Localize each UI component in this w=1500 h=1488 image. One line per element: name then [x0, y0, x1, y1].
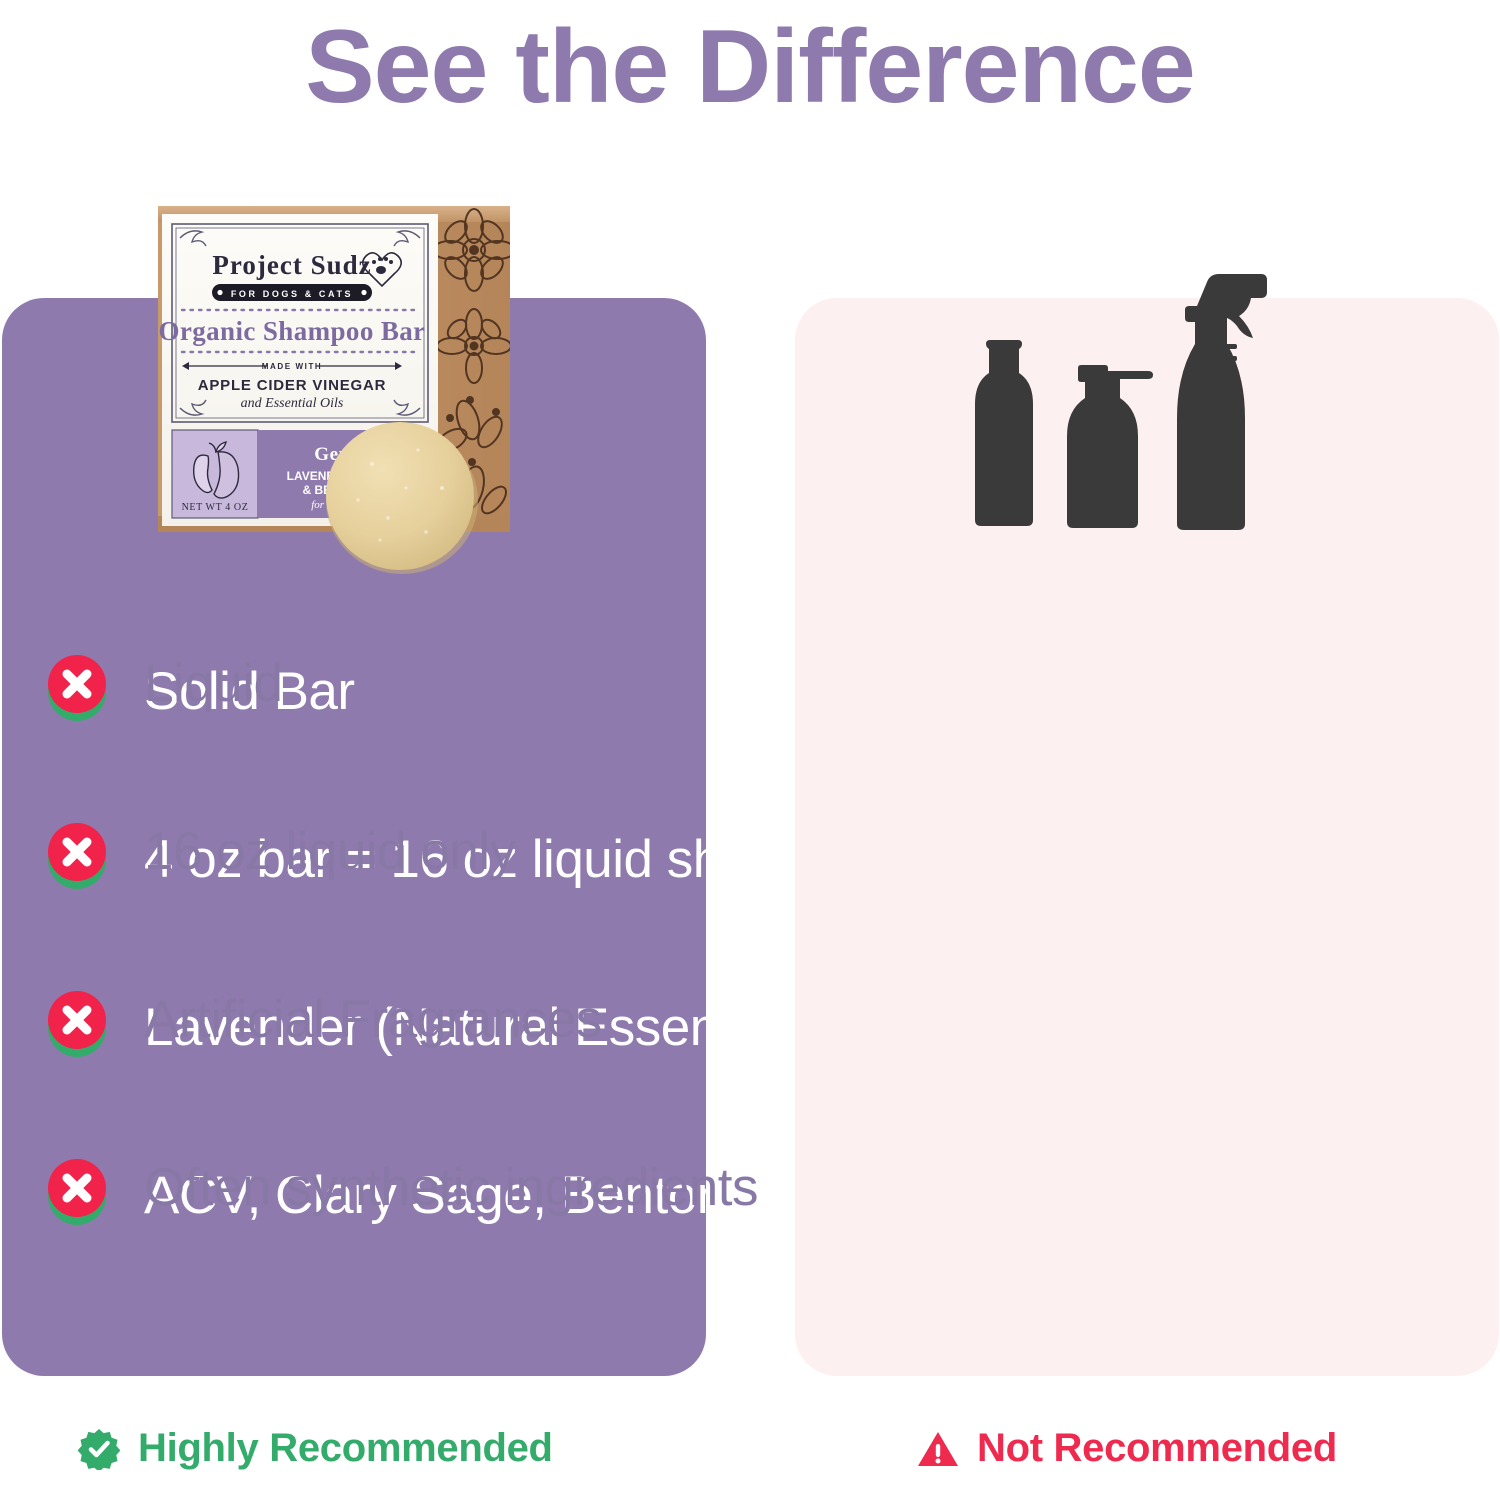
footer-label: Highly Recommended: [138, 1426, 553, 1471]
list-item: 16 oz liquid only: [46, 796, 1470, 908]
footer-label: Not Recommended: [977, 1426, 1337, 1471]
svg-text:MADE WITH: MADE WITH: [262, 362, 323, 371]
list-item-label: Artificial Fragrances: [144, 989, 602, 1050]
verified-badge-icon: [78, 1428, 120, 1470]
list-item-label: 16 oz liquid only: [144, 821, 516, 882]
liquid-bottles-image: [955, 248, 1285, 536]
list-item: Artificial Fragrances: [46, 964, 1470, 1076]
cross-circle-icon: [46, 821, 108, 883]
svg-text:APPLE CIDER VINEGAR: APPLE CIDER VINEGAR: [198, 377, 387, 394]
comparison-infographic: See the Difference: [0, 0, 1500, 1488]
cross-circle-icon: [46, 989, 108, 1051]
list-item: Liquid: [46, 628, 1470, 740]
page-title: See the Difference: [0, 8, 1500, 128]
svg-text:FOR DOGS & CATS: FOR DOGS & CATS: [231, 289, 353, 299]
highly-recommended-badge: Highly Recommended: [78, 1426, 553, 1471]
list-item-label: Liquid: [144, 653, 282, 714]
list-item: Often synthetic ingredients: [46, 1132, 1470, 1244]
svg-text:Project Sudz: Project Sudz: [212, 250, 371, 280]
cross-circle-icon: [46, 1157, 108, 1219]
not-recommended-badge: Not Recommended: [917, 1426, 1337, 1471]
product-box-image: Project Sudz FOR DOGS & CATS Organic Sha…: [150, 188, 542, 584]
not-recommended-feature-list: Liquid 16 oz liquid only Artificial Frag…: [0, 628, 1500, 1300]
cross-circle-icon: [46, 653, 108, 715]
svg-text:NET WT 4 OZ: NET WT 4 OZ: [182, 502, 249, 513]
svg-text:Organic Shampoo Bar: Organic Shampoo Bar: [158, 316, 425, 346]
warning-triangle-icon: [917, 1428, 959, 1470]
list-item-label: Often synthetic ingredients: [144, 1157, 758, 1218]
svg-text:and Essential Oils: and Essential Oils: [241, 396, 344, 411]
